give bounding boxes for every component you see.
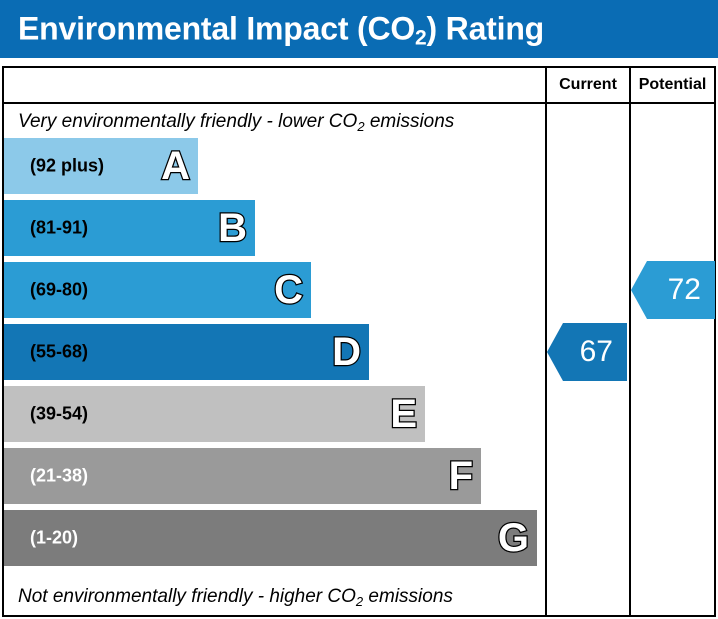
chart-title-bar: Environmental Impact (CO2) Rating [0,0,718,58]
chart-table-frame: Current Potential Very environmentally f… [2,66,716,617]
rating-band-b: (81-91)B [4,200,255,256]
rating-band-e: (39-54)E [4,386,425,442]
rating-band-letter-b: B [218,208,247,248]
potential-rating-marker: 72 [631,261,715,319]
column-divider-current [545,68,547,615]
rating-band-range-e: (39-54) [30,404,88,425]
header-divider-left [4,102,545,104]
column-header-potential: Potential [631,68,714,102]
rating-band-range-f: (21-38) [30,466,88,487]
rating-band-a: (92 plus)A [4,138,198,194]
caption-top-subscript: 2 [357,119,364,134]
rating-band-c: (69-80)C [4,262,311,318]
page-title-suffix: ) Rating [427,11,545,47]
rating-band-letter-e: E [390,394,417,434]
rating-band-letter-g: G [498,518,529,558]
caption-bottom-suffix: emissions [363,586,453,607]
caption-top: Very environmentally friendly - lower CO… [4,106,545,138]
rating-band-g: (1-20)G [4,510,537,566]
rating-band-letter-c: C [274,270,303,310]
current-rating-value: 67 [580,335,613,369]
rating-band-range-g: (1-20) [30,528,78,549]
column-header-current: Current [547,68,629,102]
rating-band-range-b: (81-91) [30,218,88,239]
rating-band-d: (55-68)D [4,324,369,380]
rating-band-range-a: (92 plus) [30,156,104,177]
page-title-subscript: 2 [415,27,426,50]
caption-top-suffix: emissions [365,111,455,132]
potential-rating-value: 72 [668,273,701,307]
caption-bottom-subscript: 2 [356,594,363,609]
page-title-prefix: Environmental Impact (CO [18,11,415,47]
rating-bands: (92 plus)A(81-91)B(69-80)C(55-68)D(39-54… [4,138,545,578]
environmental-impact-rating-chart: Environmental Impact (CO2) Rating Curren… [0,0,718,619]
rating-band-letter-d: D [332,332,361,372]
rating-band-letter-f: F [449,456,473,496]
column-divider-potential [629,68,631,615]
rating-band-f: (21-38)F [4,448,481,504]
page-title: Environmental Impact (CO2) Rating [18,11,544,48]
caption-bottom: Not environmentally friendly - higher CO… [4,579,545,615]
rating-band-range-c: (69-80) [30,280,88,301]
caption-bottom-prefix: Not environmentally friendly - higher CO [18,586,356,607]
current-rating-marker: 67 [547,323,627,381]
caption-top-prefix: Very environmentally friendly - lower CO [18,111,357,132]
rating-band-range-d: (55-68) [30,342,88,363]
rating-band-letter-a: A [161,146,190,186]
